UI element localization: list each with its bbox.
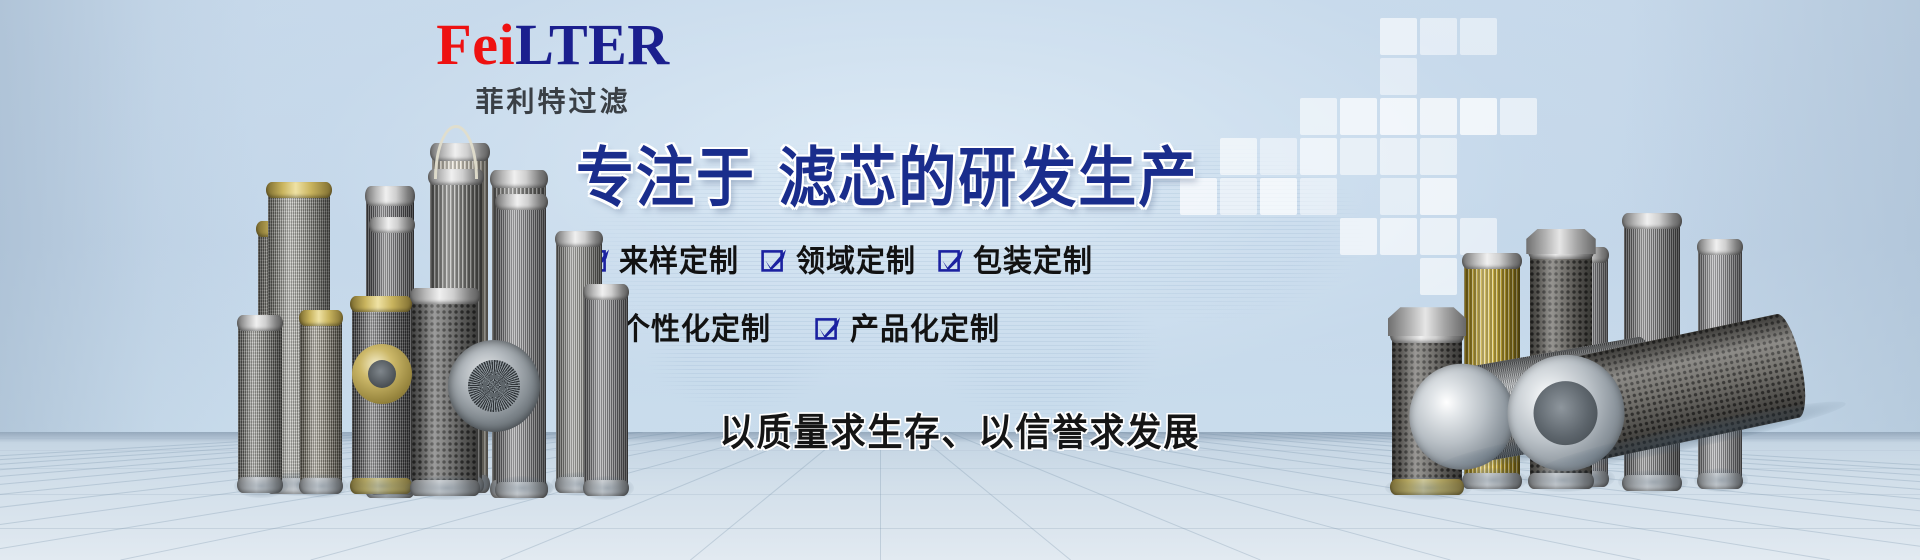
feature-item[interactable]: 包装定制: [938, 246, 1093, 276]
mosaic-square: [1420, 218, 1457, 255]
promo-banner: FeiLTER 菲利特过滤 专注于 滤芯的研发生产 来样定制 领域定制: [0, 0, 1920, 560]
mosaic-square: [1380, 178, 1417, 215]
cartridge-end-cap-top: [410, 288, 480, 304]
feature-item[interactable]: 领域定制: [761, 246, 916, 276]
mosaic-square: [1380, 18, 1417, 55]
mosaic-square: [1260, 178, 1297, 215]
filter-element-bore: [368, 360, 397, 389]
cartridge-ground-shadow: [1618, 470, 1687, 494]
cartridge-ground-shadow: [580, 476, 635, 500]
cartridge-ground-shadow: [1524, 468, 1601, 492]
cartridge-body: [300, 314, 342, 490]
feature-row-2: 个性化定制 产品化定制: [584, 314, 1224, 344]
checkbox-checked-icon: [938, 248, 964, 274]
tube-bore: [1528, 375, 1604, 451]
cartridge-shading: [300, 314, 342, 490]
cartridge-end-cap-top: [1462, 253, 1521, 269]
feature-row-1: 来样定制 领域定制 包装定制: [584, 246, 1224, 276]
mosaic-square: [1300, 178, 1337, 215]
mosaic-square: [1420, 138, 1457, 175]
cartridge-shading: [238, 318, 282, 490]
cartridge-end-cap-top: [350, 296, 411, 312]
filter-cartridge: [584, 288, 628, 492]
filter-element-small: [352, 344, 412, 404]
pixel-mosaic-decoration: [1180, 18, 1600, 248]
logo-wordmark: FeiLTER: [388, 14, 718, 76]
cartridge-end-cap-top: [583, 284, 630, 300]
feature-list: 来样定制 领域定制 包装定制 个性化定制: [584, 246, 1224, 344]
cartridge-end-cap-top: [495, 194, 548, 210]
cartridge-ground-shadow: [296, 474, 348, 498]
mosaic-square: [1380, 218, 1417, 255]
cartridge-body: [238, 318, 282, 490]
cartridge-hex-head: [1388, 306, 1466, 336]
cartridge-ground-shadow: [491, 476, 553, 500]
mosaic-square: [1220, 178, 1257, 215]
feature-label: 产品化定制: [850, 313, 1000, 345]
feature-label: 个性化定制: [621, 313, 771, 345]
mosaic-square: [1420, 178, 1457, 215]
filter-cartridge: [300, 314, 342, 490]
feature-label: 包装定制: [973, 245, 1093, 277]
cartridge-ground-shadow: [1385, 476, 1472, 500]
checkbox-checked-icon: [815, 316, 841, 342]
cartridge-ground-shadow: [234, 474, 289, 498]
feature-label: 来样定制: [619, 245, 739, 277]
mosaic-square: [1380, 138, 1417, 175]
mosaic-square: [1500, 98, 1537, 135]
mosaic-square: [1380, 58, 1417, 95]
feature-item[interactable]: 来样定制: [584, 246, 739, 276]
cartridge-end-cap-top: [490, 170, 547, 188]
mosaic-square: [1220, 138, 1257, 175]
cartridge-body: [584, 288, 628, 492]
mosaic-square: [1300, 98, 1337, 135]
mosaic-square: [1340, 138, 1377, 175]
cartridge-end-cap-top: [237, 315, 284, 331]
mosaic-square: [1420, 258, 1457, 295]
logo-wordmark-lter: LTER: [515, 12, 670, 77]
floor-horizontal-line: [0, 528, 1920, 529]
mosaic-square: [1460, 98, 1497, 135]
cartridge-hex-head: [1526, 228, 1595, 254]
logo-chinese-name: 菲利特过滤: [388, 80, 718, 120]
filter-disc-core: [468, 360, 520, 412]
feature-item[interactable]: 产品化定制: [815, 314, 1000, 344]
cartridge-end-cap-top: [365, 186, 416, 206]
filter-cartridge: [238, 318, 282, 490]
headline-text: 专注于 滤芯的研发生产: [576, 142, 1198, 214]
mosaic-square: [1340, 98, 1377, 135]
cartridge-end-cap-top: [1697, 239, 1744, 255]
feature-label: 领域定制: [796, 245, 916, 277]
cartridge-shading: [584, 288, 628, 492]
cartridge-ground-shadow: [405, 476, 487, 500]
filter-disc-face: [448, 340, 540, 432]
cartridge-ground-shadow: [1694, 468, 1749, 492]
cartridge-end-cap-top: [299, 310, 344, 326]
cartridge-end-cap-top: [266, 182, 332, 198]
mosaic-square: [1460, 18, 1497, 55]
mosaic-square: [1380, 98, 1417, 135]
brand-logo[interactable]: FeiLTER 菲利特过滤: [388, 14, 718, 120]
checkbox-checked-icon: [761, 248, 787, 274]
mosaic-square: [1420, 98, 1457, 135]
mosaic-square: [1260, 138, 1297, 175]
cartridge-end-cap-top: [369, 217, 416, 233]
mosaic-square: [1340, 218, 1377, 255]
logo-wordmark-fei: Fei: [436, 12, 515, 77]
cartridge-end-cap-top: [1622, 213, 1681, 229]
mosaic-square: [1420, 18, 1457, 55]
cartridge-end-cap-top: [555, 231, 604, 247]
mosaic-square: [1460, 218, 1497, 255]
mosaic-square: [1300, 138, 1337, 175]
wall-left-shading: [0, 0, 260, 440]
